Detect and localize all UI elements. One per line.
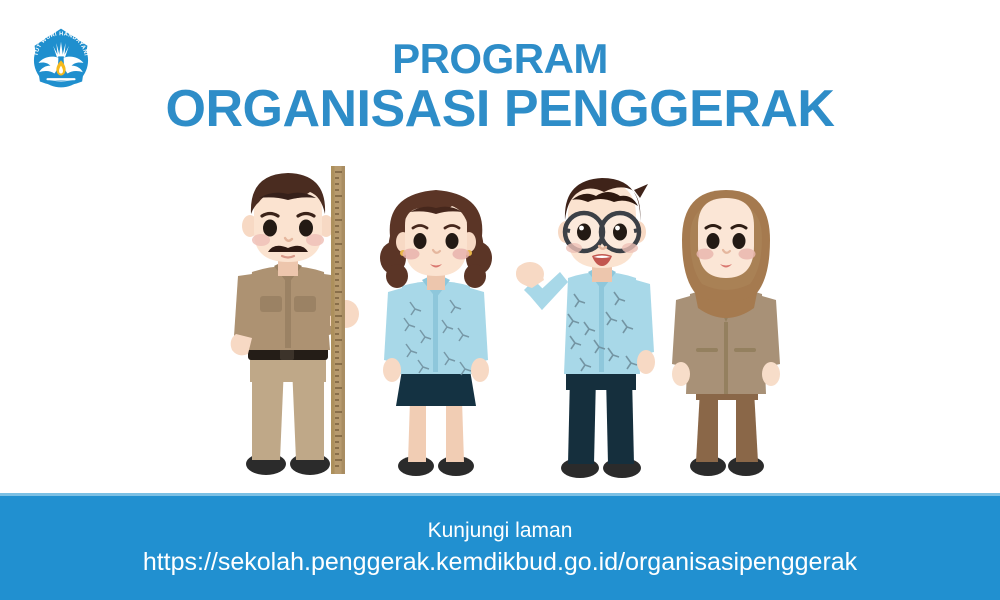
- sleeve-left: [234, 274, 252, 340]
- figure-teacher-man-with-glasses: [508, 172, 664, 482]
- leg-left: [408, 400, 426, 462]
- eye-left: [577, 224, 591, 241]
- footer-call-to-action: Kunjungi laman: [428, 518, 573, 544]
- sleeve-left: [384, 288, 402, 364]
- poster-title: PROGRAM ORGANISASI PENGGERAK: [0, 38, 1000, 136]
- eye-right: [299, 220, 313, 237]
- cheek-left: [403, 249, 420, 260]
- eye-right: [733, 233, 746, 249]
- eye-left: [263, 220, 277, 237]
- skirt: [396, 370, 476, 406]
- cheek-right: [306, 234, 324, 246]
- figure-teacher-man-with-ruler: [218, 168, 388, 480]
- poster-canvas: TUT WURI HANDAYANI PROGRAM: [0, 0, 1000, 600]
- eye-left: [707, 233, 720, 249]
- wooden-ruler: [325, 164, 351, 476]
- hand-left: [672, 362, 690, 386]
- cheek-right: [622, 243, 638, 253]
- eye-left: [414, 233, 427, 249]
- leg-right: [446, 400, 464, 462]
- pocket-right: [294, 296, 316, 312]
- trouser-left: [696, 390, 718, 462]
- cheek-right: [453, 249, 470, 260]
- footer-bar: Kunjungi laman https://sekolah.penggerak…: [0, 493, 1000, 600]
- sleeve-left: [672, 296, 690, 368]
- figure-teacher-woman-hijab: [662, 182, 790, 480]
- sleeve-right: [470, 288, 488, 364]
- hand-right: [637, 350, 655, 374]
- sleeve-right: [636, 280, 654, 356]
- eye-right: [446, 233, 459, 249]
- hand-left: [383, 358, 401, 382]
- four-educators-illustration: [0, 160, 1000, 490]
- title-line-1: PROGRAM: [0, 38, 1000, 81]
- eye-right: [613, 224, 627, 241]
- pocket-left: [260, 296, 282, 312]
- pocket-right: [734, 348, 756, 352]
- trouser-right: [736, 390, 758, 462]
- figure-teacher-woman-curly-hair: [372, 184, 500, 480]
- cheek-right: [739, 249, 756, 260]
- title-line-2: ORGANISASI PENGGERAK: [0, 83, 1000, 136]
- footer-website-url[interactable]: https://sekolah.penggerak.kemdikbud.go.i…: [143, 547, 857, 578]
- sleeve-right: [762, 296, 780, 368]
- pocket-left: [696, 348, 718, 352]
- cheek-left: [566, 243, 582, 253]
- hand-right: [762, 362, 780, 386]
- hand-right: [471, 358, 489, 382]
- cheek-left: [697, 249, 714, 260]
- cheek-left: [252, 234, 270, 246]
